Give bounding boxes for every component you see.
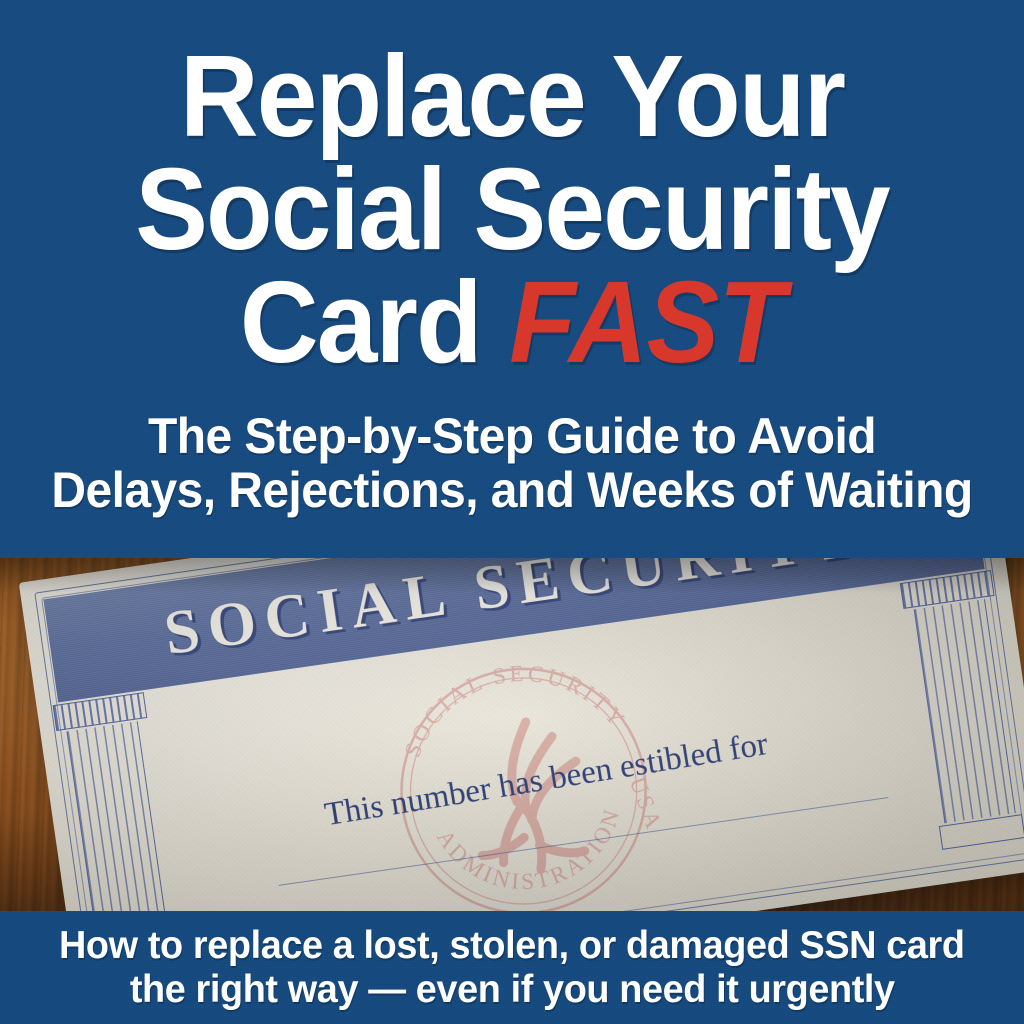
- caption-section: How to replace a lost, stolen, or damage…: [0, 911, 1024, 1024]
- subtitle-line-2: Delays, Rejections, and Weeks of Waiting: [20, 463, 1003, 517]
- subtitle-line-1: The Step-by-Step Guide to Avoid: [20, 409, 1003, 463]
- seal-top-label: SOCIAL SECURITY: [389, 645, 633, 763]
- social-security-card: SOCIAL SECURITY: [19, 558, 1024, 911]
- card-photograph: SOCIAL SECURITY: [0, 558, 1024, 911]
- caption-line-2: the right way — even if you need it urge…: [130, 968, 895, 1012]
- title-line-3-prefix: Card: [240, 257, 509, 387]
- card-face: SOCIAL SECURITY: [19, 558, 1024, 911]
- caption-line-1: How to replace a lost, stolen, or damage…: [59, 924, 965, 968]
- title-line-1: Replace Your: [31, 40, 994, 153]
- poster-cover: Replace Your Social Security Card FAST T…: [0, 0, 1024, 1024]
- title-line-2: Social Security: [31, 153, 994, 266]
- page-title: Replace Your Social Security Card FAST: [0, 40, 1024, 379]
- subtitle: The Step-by-Step Guide to Avoid Delays, …: [0, 409, 1024, 517]
- hero-section: Replace Your Social Security Card FAST T…: [0, 0, 1024, 558]
- title-accent-fast: FAST: [509, 257, 784, 387]
- title-line-3: Card FAST: [31, 266, 994, 379]
